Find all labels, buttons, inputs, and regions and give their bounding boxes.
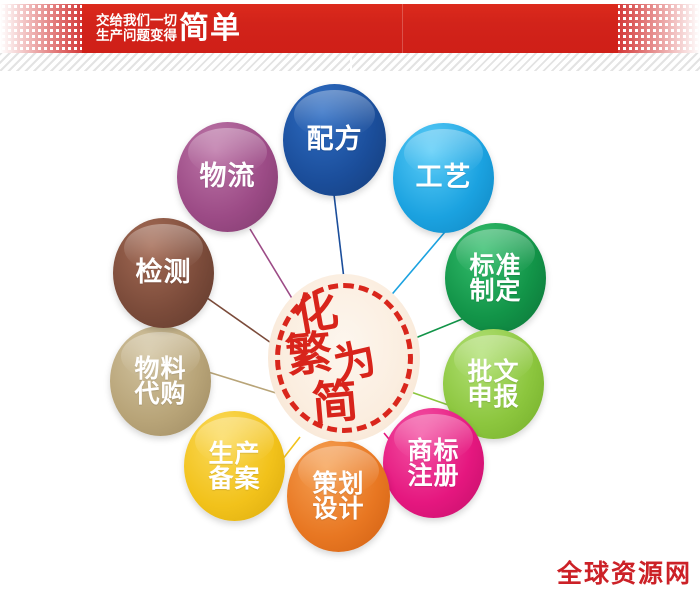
seal-text: 化 繁 为 简 [268,274,420,442]
banner-subtext: 交给我们一切 生产问题变得 [96,14,177,45]
seal-char-4: 简 [310,378,360,426]
node-shangbiao-label-2: 注册 [407,463,459,489]
node-peifang[interactable]: 配方 [283,84,386,196]
node-gongyi-label: 工艺 [416,162,472,193]
connector-peifang [333,186,344,279]
banner-dot-pattern-left [0,4,92,53]
node-wuliao-label-2: 代购 [134,381,186,407]
infographic-page: 交给我们一切 生产问题变得 简单 配方 [0,0,700,596]
diagram-canvas: 配方 工艺 标准 制定 批文 申报 商标 注册 [0,71,700,596]
header-banner: 交给我们一切 生产问题变得 简单 [0,4,700,53]
seal-char-2: 繁 [284,330,334,379]
node-wuliu[interactable]: 物流 [177,122,278,232]
connector-jiance [200,293,274,345]
node-gongyi[interactable]: 工艺 [393,123,494,233]
banner-line-2: 生产问题变得 [96,29,177,45]
center-seal: 化 繁 为 简 [268,274,420,442]
node-wuliao[interactable]: 物料 代购 [110,326,211,436]
diagonal-stripe-divider [0,53,700,71]
banner-dot-pattern-right [608,4,700,53]
banner-highlight: 简单 [179,14,241,44]
watermark: 全球资源网 [557,554,692,590]
node-biaozhun-label-2: 制定 [469,278,521,304]
node-biaozhun[interactable]: 标准 制定 [445,223,546,333]
node-cehua[interactable]: 策划 设计 [287,440,390,552]
node-wuliu-label: 物流 [200,161,256,192]
banner-line-1: 交给我们一切 [96,14,177,30]
connector-wuliao [205,371,276,393]
node-piwen-label-2: 申报 [467,384,519,410]
node-cehua-label-2: 设计 [312,496,364,522]
node-shengchan-label-2: 备案 [208,466,260,492]
banner-headline: 交给我们一切 生产问题变得 简单 [96,7,241,51]
node-jiance[interactable]: 检测 [113,218,214,328]
node-peifang-label: 配方 [307,124,363,155]
node-jiance-label: 检测 [136,257,192,288]
